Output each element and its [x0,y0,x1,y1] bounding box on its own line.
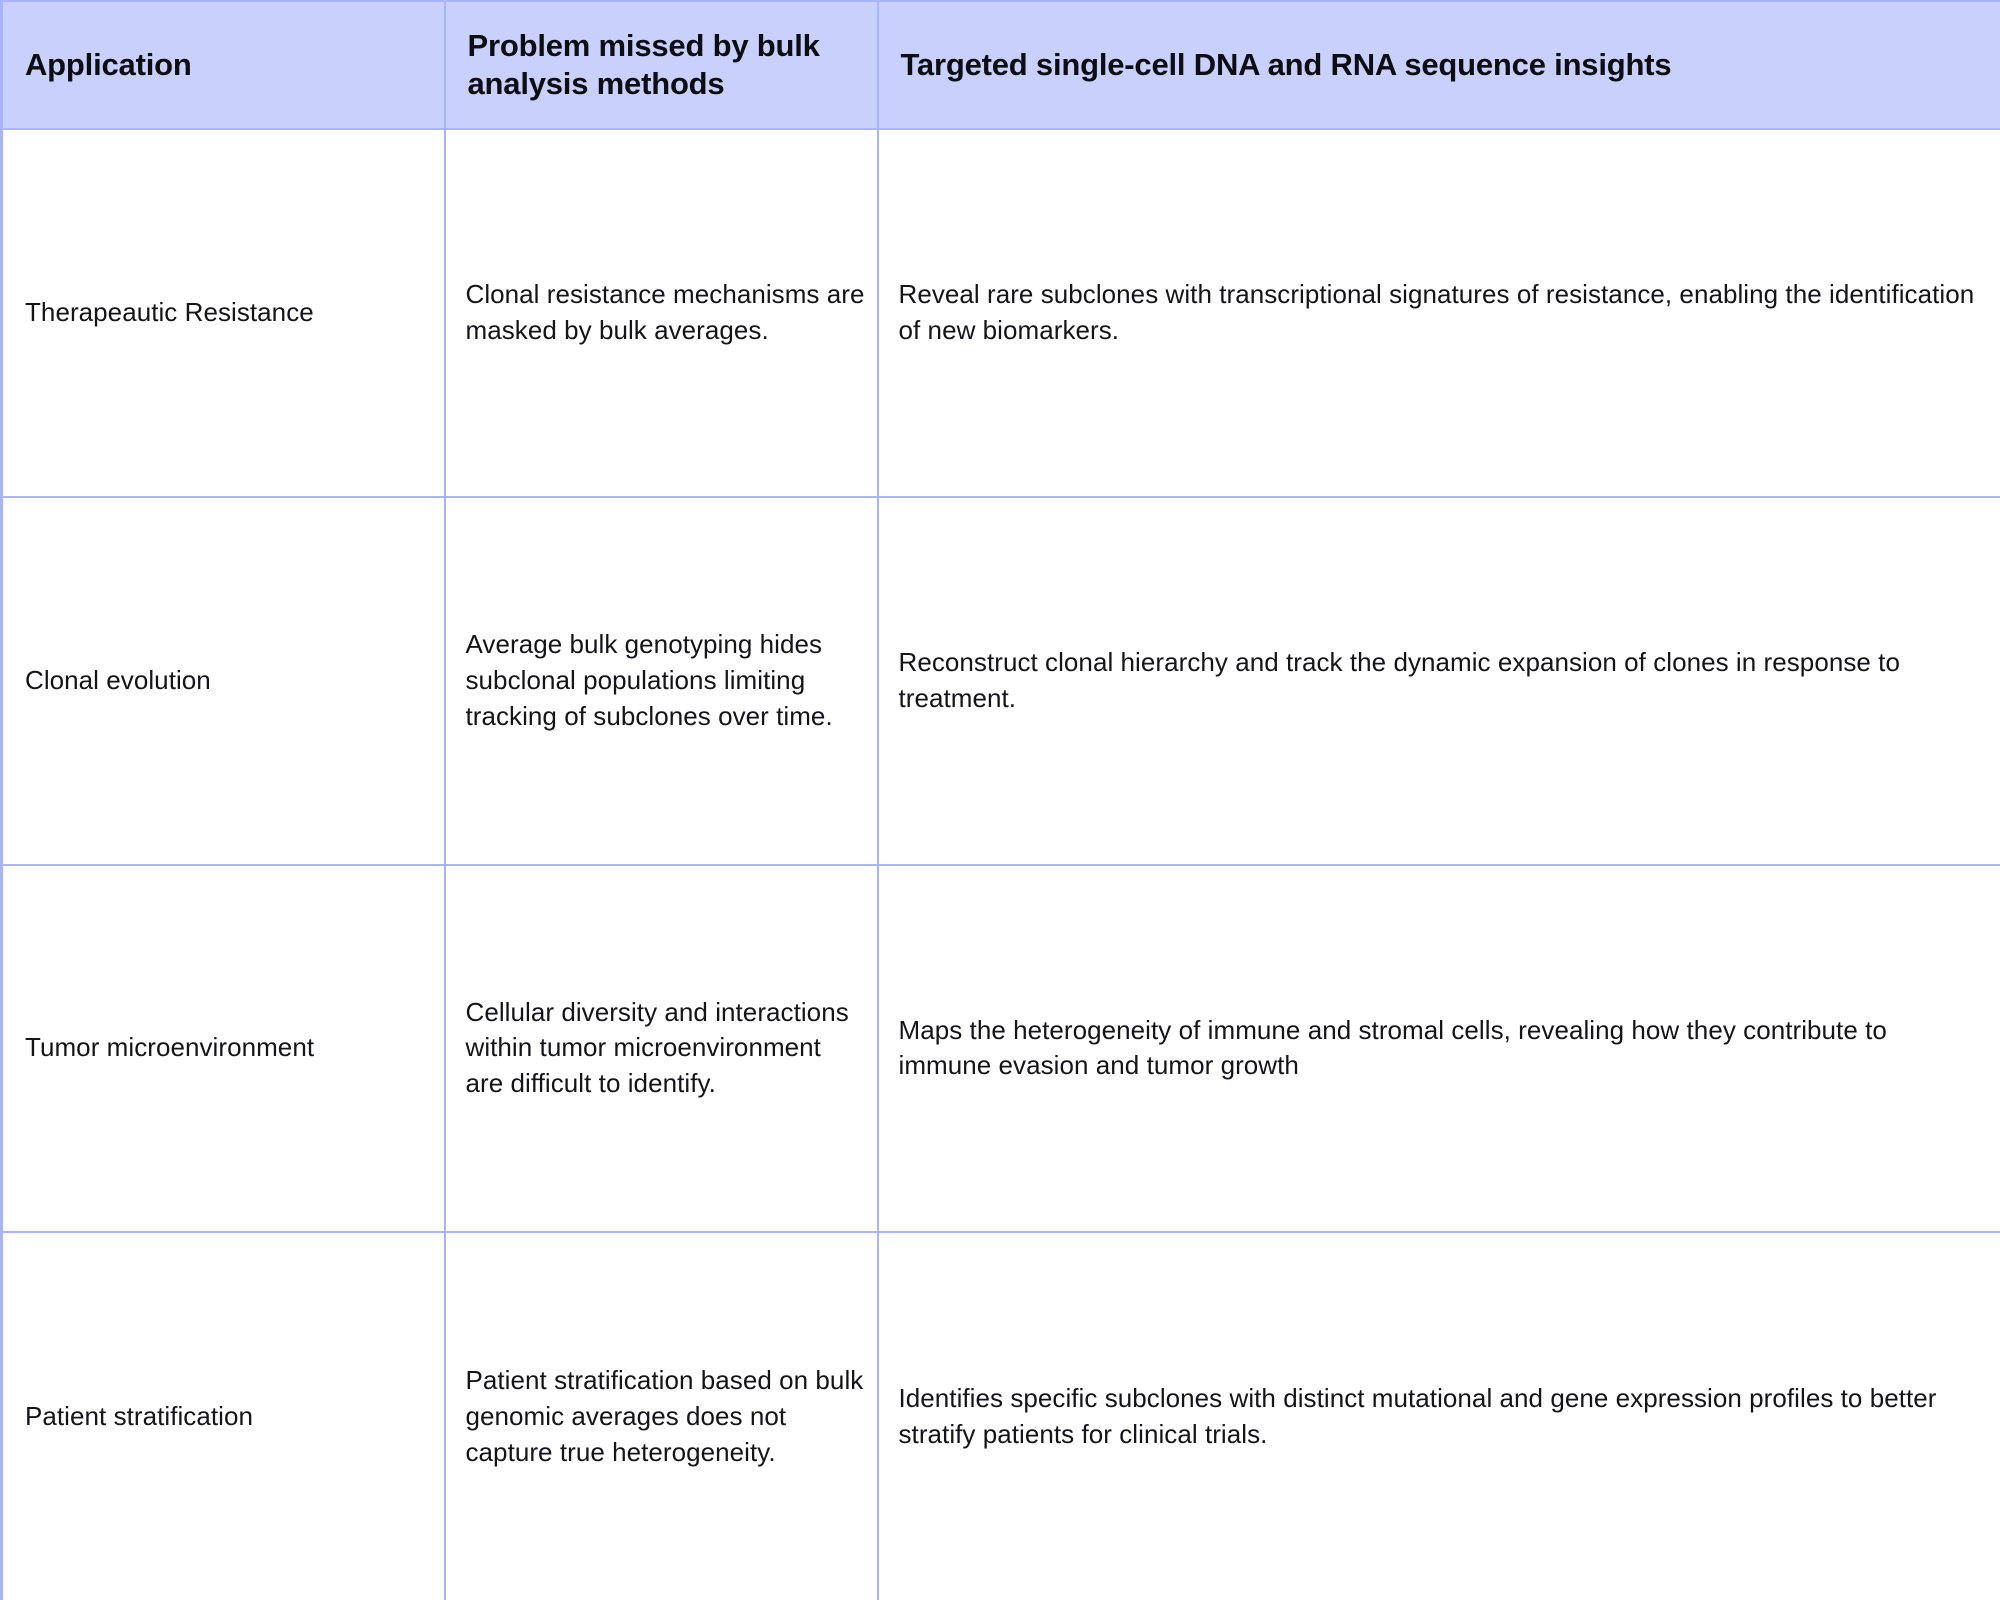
column-header-insight: Targeted single-cell DNA and RNA sequenc… [878,1,2000,129]
cell-application-text: Patient stratification [3,1399,444,1435]
header-row: Application Problem missed by bulk analy… [2,1,2000,129]
cell-insight-text: Reconstruct clonal hierarchy and track t… [879,645,2000,717]
cell-application: Therapeautic Resistance [2,129,445,497]
cell-insight: Reveal rare subclones with transcription… [878,129,2000,497]
cell-problem-text: Average bulk genotyping hides subclonal … [446,627,877,735]
cell-application-text: Clonal evolution [3,663,444,699]
cell-application: Tumor microenvironment [2,865,445,1233]
cell-insight-text: Identifies specific subclones with disti… [879,1381,2000,1453]
cell-application: Patient stratification [2,1232,445,1600]
table-row: Therapeautic Resistance Clonal resistanc… [2,129,2000,497]
table-row: Clonal evolution Average bulk genotyping… [2,497,2000,865]
column-header-problem-label: Problem missed by bulk analysis methods [446,27,877,103]
column-header-application: Application [2,1,445,129]
column-header-problem: Problem missed by bulk analysis methods [445,1,878,129]
cell-problem: Patient stratification based on bulk gen… [445,1232,878,1600]
cell-insight: Maps the heterogeneity of immune and str… [878,865,2000,1233]
cell-application-text: Therapeautic Resistance [3,295,444,331]
comparison-table-container: Application Problem missed by bulk analy… [0,0,2000,1600]
cell-insight-text: Reveal rare subclones with transcription… [879,277,2000,349]
cell-insight-text: Maps the heterogeneity of immune and str… [879,1013,2000,1085]
cell-problem-text: Patient stratification based on bulk gen… [446,1363,877,1471]
comparison-table: Application Problem missed by bulk analy… [0,0,2000,1600]
table-body: Therapeautic Resistance Clonal resistanc… [2,129,2000,1600]
cell-insight: Reconstruct clonal hierarchy and track t… [878,497,2000,865]
cell-insight: Identifies specific subclones with disti… [878,1232,2000,1600]
cell-problem-text: Clonal resistance mechanisms are masked … [446,277,877,349]
cell-application-text: Tumor microenvironment [3,1030,444,1066]
cell-problem: Cellular diversity and interactions with… [445,865,878,1233]
cell-problem-text: Cellular diversity and interactions with… [446,995,877,1103]
cell-problem: Clonal resistance mechanisms are masked … [445,129,878,497]
column-header-insight-label: Targeted single-cell DNA and RNA sequenc… [879,46,2000,84]
cell-application: Clonal evolution [2,497,445,865]
table-header: Application Problem missed by bulk analy… [2,1,2000,129]
table-row: Tumor microenvironment Cellular diversit… [2,865,2000,1233]
table-row: Patient stratification Patient stratific… [2,1232,2000,1600]
cell-problem: Average bulk genotyping hides subclonal … [445,497,878,865]
column-header-application-label: Application [3,46,444,84]
